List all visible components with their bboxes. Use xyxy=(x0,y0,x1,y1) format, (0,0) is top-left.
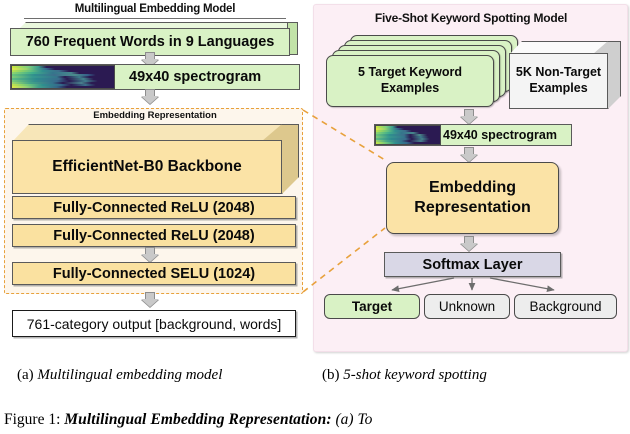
subcaption-b-label: (b) xyxy=(322,367,340,383)
fc-relu-2: Fully-Connected ReLU (2048) xyxy=(12,224,296,247)
output-target: Target xyxy=(324,294,420,319)
arrow-fc2-to-fc3 xyxy=(141,247,159,262)
fc-relu-2-label: Fully-Connected ReLU (2048) xyxy=(53,228,254,244)
embedding-line-2: Representation xyxy=(414,198,530,218)
embedding-representation-box: Embedding Representation xyxy=(386,162,559,234)
fc-selu-3: Fully-Connected SELU (1024) xyxy=(12,262,296,285)
nontarget-front-face: 5K Non-Target Examples xyxy=(509,53,608,109)
output-unknown-label: Unknown xyxy=(439,299,495,314)
output-background-label: Background xyxy=(529,299,601,314)
softmax-layer-label: Softmax Layer xyxy=(423,257,523,273)
efficientnet-front-face: EfficientNet-B0 Backbone xyxy=(12,140,282,194)
arrow-fc3-to-output xyxy=(141,292,159,307)
fc-relu-1: Fully-Connected ReLU (2048) xyxy=(12,196,296,219)
fc-selu-3-label: Fully-Connected SELU (1024) xyxy=(53,266,255,282)
left-spectrogram-image xyxy=(11,65,115,89)
arrow-examples-to-spectrogram xyxy=(460,109,478,124)
left-spectrogram-label: 49x40 spectrogram xyxy=(129,69,261,85)
efficientnet-box-3d: EfficientNet-B0 Backbone xyxy=(12,124,297,192)
left-panel-multilingual-embedding-model: Multilingual Embedding Model 760 Frequen… xyxy=(0,0,308,352)
arrow-spectrogram-to-embedding-right xyxy=(460,147,478,162)
arrow-spectrogram-to-embedding xyxy=(141,89,159,104)
figure-caption-lead: Figure 1: xyxy=(4,411,60,428)
left-title-underline xyxy=(24,18,286,19)
subcaption-a-text: Multilingual embedding model xyxy=(37,367,222,383)
output-unknown: Unknown xyxy=(424,294,510,319)
subcaption-a-label: (a) xyxy=(17,367,34,383)
left-panel-title: Multilingual Embedding Model xyxy=(30,2,280,17)
output-target-label: Target xyxy=(352,299,392,314)
right-spectrogram-label: 49x40 spectrogram xyxy=(443,128,557,142)
embedding-line-1: Embedding xyxy=(414,178,530,198)
nontarget-examples-line1: 5K Non-Target xyxy=(516,65,601,81)
nontarget-examples-line2: Examples xyxy=(516,81,601,97)
right-panel-title: Five-Shot Keyword Spotting Model xyxy=(342,11,600,26)
softmax-layer-box: Softmax Layer xyxy=(384,252,561,277)
nontarget-box-3d: 5K Non-Target Examples xyxy=(509,41,619,107)
figure-caption-rest: (a) To xyxy=(336,411,373,428)
output-background: Background xyxy=(514,294,617,319)
embedding-group-label: Embedding Representation xyxy=(60,110,250,122)
figure-caption: Figure 1: Multilingual Embedding Represe… xyxy=(4,411,630,429)
target-examples-line2: Examples xyxy=(358,81,462,97)
subcaption-b-text: 5-shot keyword spotting xyxy=(343,367,487,383)
words-box-label: 760 Frequent Words in 9 Languages xyxy=(26,34,275,50)
figure-canvas: Multilingual Embedding Model 760 Frequen… xyxy=(0,0,630,358)
output-box: 761-category output [background, words] xyxy=(12,310,296,337)
words-box-3d: 760 Frequent Words in 9 Languages xyxy=(10,22,300,54)
arrow-embedding-to-softmax xyxy=(460,236,478,251)
subcaption-b: (b) 5-shot keyword spotting xyxy=(322,367,487,384)
right-panel-five-shot-keyword-spotting: Five-Shot Keyword Spotting Model 5 Targe… xyxy=(313,4,628,352)
output-box-label: 761-category output [background, words] xyxy=(27,316,282,332)
target-card-1: 5 Target Keyword Examples xyxy=(326,55,494,107)
figure-caption-bold: Multilingual Embedding Representation: xyxy=(64,411,331,428)
target-examples-line1: 5 Target Keyword xyxy=(358,65,462,81)
right-spectrogram-image xyxy=(375,125,441,145)
subcaption-a: (a) Multilingual embedding model xyxy=(17,367,222,384)
efficientnet-label: EfficientNet-B0 Backbone xyxy=(52,158,241,176)
fc-relu-1-label: Fully-Connected ReLU (2048) xyxy=(53,200,254,216)
